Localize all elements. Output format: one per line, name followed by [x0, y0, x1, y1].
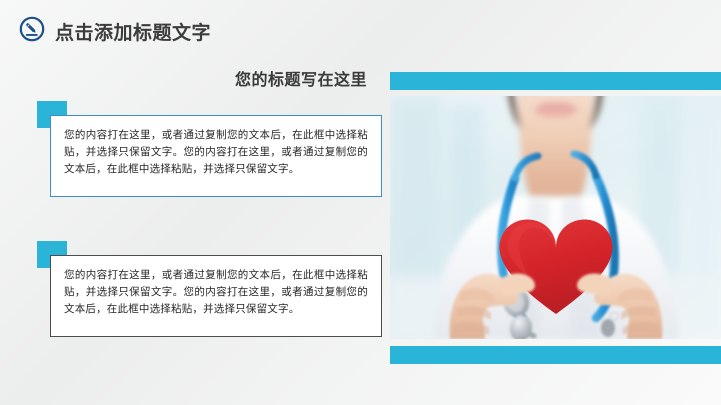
text-box-one[interactable]: 您的内容打在这里，或者通过复制您的文本后，在此框中选择粘贴，并选择只保留文字。您…: [50, 115, 382, 197]
text-box-two-body: 您的内容打在这里，或者通过复制您的文本后，在此框中选择粘贴，并选择只保留文字。您…: [64, 267, 368, 318]
accent-bar-bottom: [390, 346, 721, 364]
page-title: 点击添加标题文字: [55, 18, 211, 45]
doctor-holding-red-heart-photo: [390, 96, 721, 339]
pencil-in-circle-icon: [19, 16, 45, 42]
accent-bar-top: [390, 72, 721, 90]
section-subtitle: 您的标题写在这里: [0, 66, 367, 90]
text-box-one-body: 您的内容打在这里，或者通过复制您的文本后，在此框中选择粘贴，并选择只保留文字。您…: [64, 127, 368, 178]
text-box-two[interactable]: 您的内容打在这里，或者通过复制您的文本后，在此框中选择粘贴，并选择只保留文字。您…: [50, 255, 382, 337]
photo-panel: [390, 0, 721, 405]
slide: 点击添加标题文字 您的标题写在这里 您的内容打在这里，或者通过复制您的文本后，在…: [0, 0, 721, 405]
